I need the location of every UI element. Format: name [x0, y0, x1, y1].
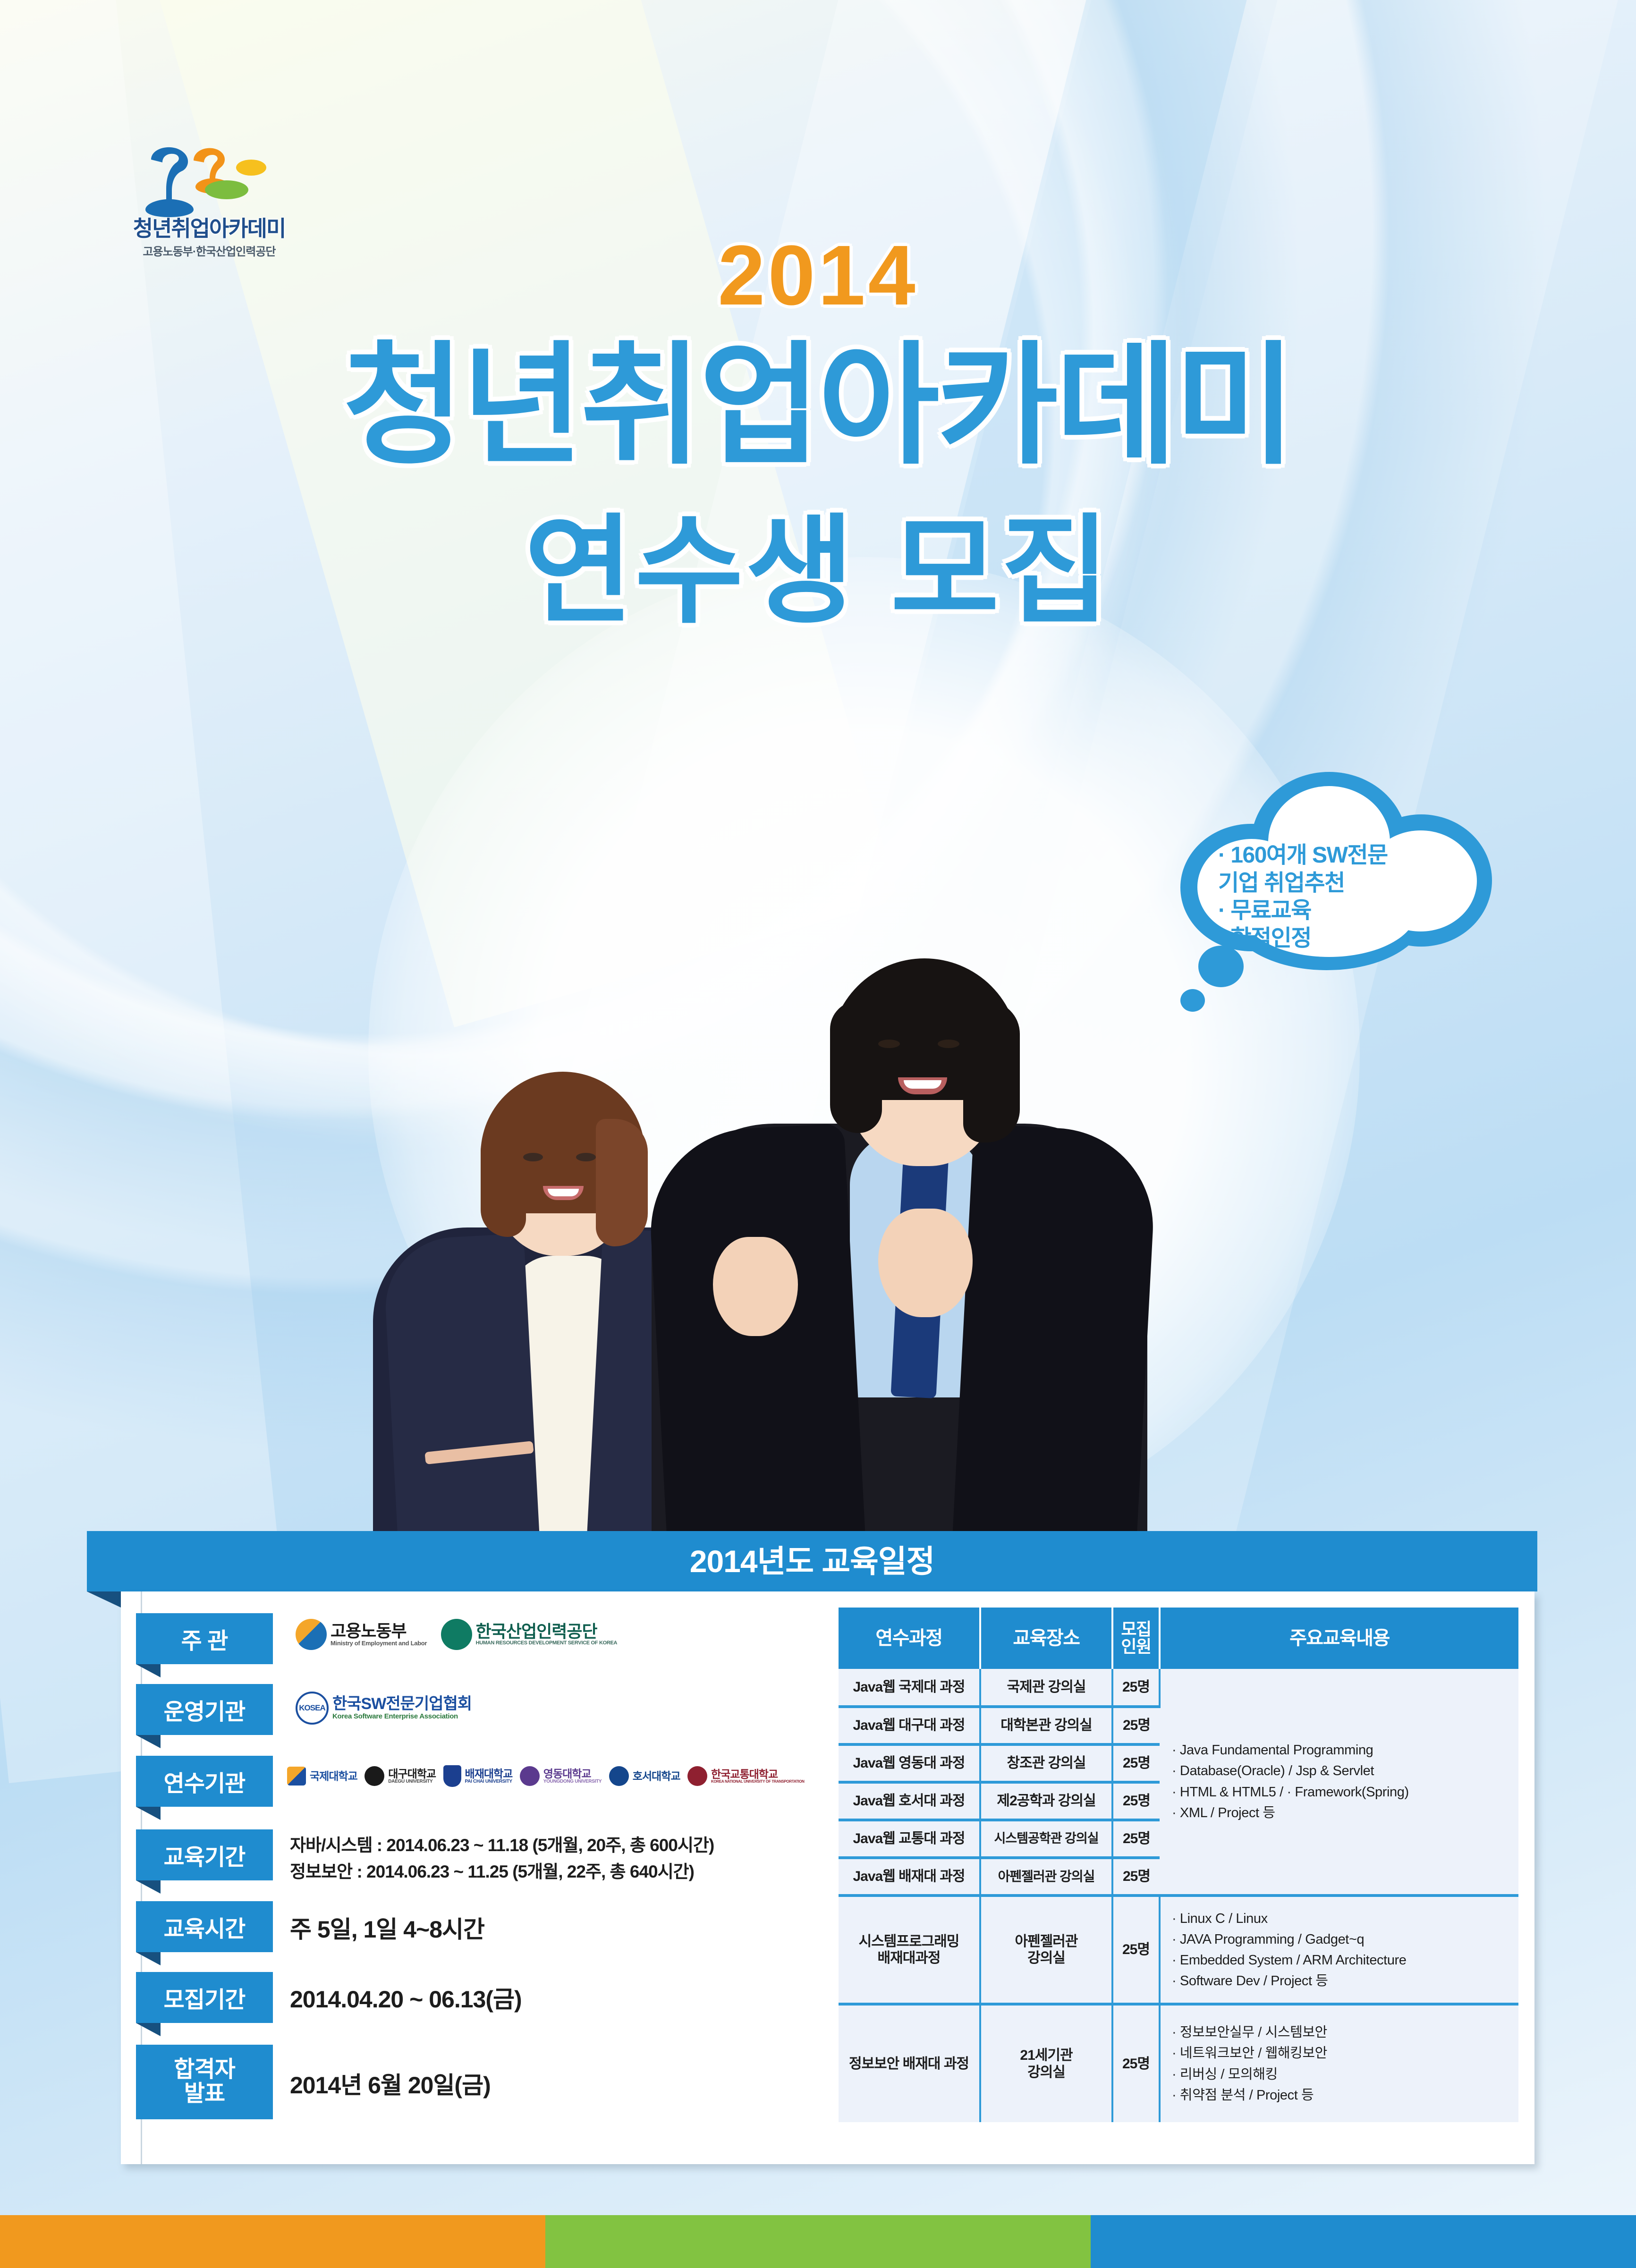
hero-year: 2014: [0, 227, 1636, 324]
desc-line: · 정보보안실무 / 시스템보안: [1172, 2022, 1517, 2043]
bubble-tail-dot-large: [1198, 946, 1244, 987]
info-label-period: 교육기간: [136, 1829, 273, 1880]
cell-course: Java웹 배재대 과정: [839, 1858, 980, 1896]
kosea-mark-icon: KOSEA: [296, 1692, 329, 1725]
info-label-operator: 운영기관: [136, 1684, 273, 1735]
info-value-period: 자바/시스템 : 2014.06.23 ~ 11.18 (5개월, 20주, 총…: [290, 1832, 714, 1885]
info-value-application-period: 2014.04.20 ~ 06.13(금): [290, 1980, 522, 2014]
info-fold-operator-icon: [136, 1735, 161, 1748]
schedule-table: 연수과정 교육장소 모집 인원 주요교육내용 Java웹 국제대 과정 국제관 …: [839, 1608, 1518, 2122]
univ-name-ko: 호서대학교: [633, 1770, 680, 1782]
univ-name-ko: 한국교통대학교: [711, 1769, 805, 1780]
cell-description: · Linux C / Linux · JAVA Programming / G…: [1160, 1896, 1518, 2004]
cell-course: Java웹 영동대 과정: [839, 1744, 980, 1782]
info-label-hours-text: 교육시간: [164, 1910, 246, 1943]
bubble-benefit-3: · 학점인정: [1218, 925, 1464, 953]
univ-name-en: DAEGU UNIVERSITY: [388, 1779, 436, 1785]
hoseo-mark-icon: [609, 1766, 629, 1786]
knut-mark-icon: [687, 1766, 707, 1786]
desc-line: · 네트워크보안 / 웹해킹보안: [1172, 2043, 1517, 2064]
desc-line: · 리버싱 / 모의해킹: [1172, 2064, 1517, 2085]
desc-line: · Embedded System / ARM Architecture: [1172, 1950, 1517, 1971]
students-photo: [359, 727, 1190, 1539]
bubble-benefit-1: 기업 취업추천: [1218, 870, 1464, 897]
info-value-training-institutions: 국제대학교 대구대학교 DAEGU UNIVERSITY 배재대학교 PAI C…: [287, 1765, 835, 1787]
cell-place: 21세기관 강의실: [980, 2004, 1112, 2122]
info-label-training-institutions: 연수기관: [136, 1756, 273, 1807]
cell-course: Java웹 호서대 과정: [839, 1782, 980, 1820]
cell-quota: 25명: [1112, 1744, 1160, 1782]
bubble-tail-dot-small: [1180, 989, 1205, 1012]
table-header-course: 연수과정: [839, 1608, 980, 1669]
green-bar: [545, 2215, 1091, 2268]
schedule-banner: 2014년도 교육일정: [87, 1531, 1537, 1591]
cell-place: 시스템공학관 강의실: [980, 1820, 1112, 1858]
univ-name-ko: 국제대학교: [310, 1770, 357, 1782]
cell-course: 시스템프로그래밍 배재대과정: [839, 1896, 980, 2004]
bubble-benefit-list: · 160여개 SW전문 기업 취업추천 · 무료교육 · 학점인정: [1218, 842, 1464, 952]
period-line-1: 정보보안 : 2014.06.23 ~ 11.25 (5개월, 22주, 총 6…: [290, 1859, 714, 1885]
desc-line: · Database(Oracle) / Jsp & Servlet: [1172, 1760, 1517, 1781]
info-label-period-text: 교육기간: [164, 1838, 246, 1871]
cell-place: 국제관 강의실: [980, 1669, 1112, 1707]
cell-quota: 25명: [1112, 1858, 1160, 1896]
schedule-banner-title: 2014년도 교육일정: [87, 1531, 1537, 1591]
paichai-mark-icon: [443, 1765, 461, 1787]
cell-quota: 25명: [1112, 1896, 1160, 2004]
blue-bar: [1091, 2215, 1636, 2268]
daegu-mark-icon: [364, 1766, 384, 1786]
desc-line: · HTML & HTML5 / · Framework(Spring): [1172, 1782, 1517, 1803]
table-row: 시스템프로그래밍 배재대과정 아펜젤러관 강의실 25명 · Linux C /…: [839, 1896, 1518, 2004]
benefits-thought-bubble: · 160여개 SW전문 기업 취업추천 · 무료교육 · 학점인정: [1171, 772, 1492, 975]
info-label-operator-text: 운영기관: [164, 1693, 246, 1726]
cell-place: 아펜젤러관 강의실: [980, 1896, 1112, 2004]
youngdong-mark-icon: [520, 1766, 540, 1786]
cell-place: 제2공학과 강의실: [980, 1782, 1112, 1820]
info-label-application-text: 모집기간: [164, 1981, 246, 2014]
info-value-host: 고용노동부 Ministry of Employment and Labor 한…: [296, 1619, 815, 1650]
period-line-0: 자바/시스템 : 2014.06.23 ~ 11.18 (5개월, 20주, 총…: [290, 1832, 714, 1859]
info-list: 주 관 고용노동부 Ministry of Employment and Lab…: [121, 1591, 829, 2164]
logo-green-dot-icon: [205, 180, 248, 199]
univ-logo-paichai: 배재대학교 PAI CHAI UNIVERSITY: [443, 1765, 513, 1787]
moel-mark-icon: [296, 1619, 327, 1650]
org-name-ko: 한국SW전문기업협회: [332, 1696, 472, 1713]
table-header-content: 주요교육내용: [1160, 1608, 1518, 1669]
info-fold-training-icon: [136, 1807, 161, 1820]
photo-man: [652, 765, 1147, 1539]
univ-logo-daegu: 대구대학교 DAEGU UNIVERSITY: [364, 1766, 436, 1786]
org-logo-hrdkorea: 한국산업인력공단 HUMAN RESOURCES DEVELOPMENT SER…: [441, 1619, 618, 1650]
info-fold-application-icon: [136, 2023, 161, 2036]
org-logo-moel: 고용노동부 Ministry of Employment and Labor: [296, 1619, 427, 1650]
univ-name-en: YOUNGDONG UNIVERSITY: [543, 1779, 602, 1785]
cell-quota: 25명: [1112, 1707, 1160, 1744]
cell-quota: 25명: [1112, 1782, 1160, 1820]
univ-name-ko: 영동대학교: [543, 1768, 602, 1779]
desc-line: · Software Dev / Project 등: [1172, 1971, 1517, 1991]
hero-title-line2: 연수생 모집: [0, 512, 1636, 630]
info-label-host-text: 주 관: [181, 1622, 228, 1655]
desc-line: · XML / Project 등: [1172, 1803, 1517, 1823]
info-label-training-text: 연수기관: [164, 1765, 246, 1798]
info-label-application-period: 모집기간: [136, 1972, 273, 2023]
cell-place: 대학본관 강의실: [980, 1707, 1112, 1744]
org-name-ko: 한국산업인력공단: [476, 1623, 618, 1641]
cell-description: · Java Fundamental Programming · Databas…: [1160, 1669, 1518, 1896]
hrdkorea-mark-icon: [441, 1619, 472, 1650]
org-name-en: HUMAN RESOURCES DEVELOPMENT SERVICE OF K…: [476, 1641, 618, 1646]
info-fold-period-icon: [136, 1880, 161, 1894]
org-name-en: Korea Software Enterprise Association: [332, 1713, 472, 1720]
table-header-row: 연수과정 교육장소 모집 인원 주요교육내용: [839, 1608, 1518, 1669]
info-panel: 주 관 고용노동부 Ministry of Employment and Lab…: [121, 1591, 1534, 2164]
desc-line: · 취약점 분석 / Project 등: [1172, 2085, 1517, 2106]
poster-root: 청년취업아카데미 고용노동부·한국산업인력공단 2014 청년취업아카데미 연수…: [0, 0, 1636, 2268]
bubble-benefit-2: · 무료교육: [1218, 897, 1464, 925]
bubble-benefit-0: · 160여개 SW전문: [1218, 842, 1464, 870]
cell-course: 정보보안 배재대 과정: [839, 2004, 980, 2122]
info-fold-host-icon: [136, 1664, 161, 1677]
univ-name-ko: 배재대학교: [465, 1768, 513, 1779]
org-name-ko: 고용노동부: [331, 1622, 427, 1640]
table-header-quota: 모집 인원: [1112, 1608, 1160, 1669]
cell-course: Java웹 교통대 과정: [839, 1820, 980, 1858]
info-fold-hours-icon: [136, 1952, 161, 1965]
cell-description: · 정보보안실무 / 시스템보안 · 네트워크보안 / 웹해킹보안 · 리버싱 …: [1160, 2004, 1518, 2122]
cell-quota: 25명: [1112, 1820, 1160, 1858]
hero-title-line1: 청년취업아카데미: [0, 340, 1636, 472]
orange-bar: [0, 2215, 545, 2268]
info-value-operator: KOSEA 한국SW전문기업협회 Korea Software Enterpri…: [296, 1692, 815, 1725]
desc-line: · Linux C / Linux: [1172, 1908, 1517, 1929]
org-name-en: Ministry of Employment and Labor: [331, 1640, 427, 1647]
cell-quota: 25명: [1112, 2004, 1160, 2122]
info-label-announcement-text: 합격자 발표: [174, 2058, 235, 2106]
table-row: Java웹 국제대 과정 국제관 강의실 25명 · Java Fundamen…: [839, 1669, 1518, 1707]
univ-logo-kookje: 국제대학교: [287, 1767, 357, 1786]
table-row: 정보보안 배재대 과정 21세기관 강의실 25명 · 정보보안실무 / 시스템…: [839, 2004, 1518, 2122]
univ-name-ko: 대구대학교: [388, 1768, 436, 1779]
cell-course: Java웹 대구대 과정: [839, 1707, 980, 1744]
univ-logo-knut: 한국교통대학교 KOREA NATIONAL UNIVERSITY OF TRA…: [687, 1766, 805, 1786]
info-label-announcement: 합격자 발표: [136, 2045, 273, 2119]
info-label-hours: 교육시간: [136, 1901, 273, 1952]
kookje-mark-icon: [287, 1767, 306, 1786]
univ-name-en: KOREA NATIONAL UNIVERSITY OF TRANSPORTAT…: [711, 1780, 805, 1784]
desc-line: · Java Fundamental Programming: [1172, 1740, 1517, 1760]
table-header-place: 교육장소: [980, 1608, 1112, 1669]
info-label-host: 주 관: [136, 1613, 273, 1664]
univ-logo-youngdong: 영동대학교 YOUNGDONG UNIVERSITY: [520, 1766, 602, 1786]
univ-logo-hoseo: 호서대학교: [609, 1766, 680, 1786]
cell-quota: 25명: [1112, 1669, 1160, 1707]
cell-place: 아펜젤러관 강의실: [980, 1858, 1112, 1896]
cell-course: Java웹 국제대 과정: [839, 1669, 980, 1707]
info-value-announcement: 2014년 6월 20일(금): [290, 2066, 491, 2100]
logo-yellow-dot-icon: [236, 160, 266, 176]
desc-line: · JAVA Programming / Gadget~q: [1172, 1929, 1517, 1950]
footer-color-bars: [0, 2215, 1636, 2268]
info-value-hours: 주 5일, 1일 4~8시간: [290, 1911, 484, 1945]
logo-mark-icon: [108, 142, 311, 217]
org-logo-kosea: KOSEA 한국SW전문기업협회 Korea Software Enterpri…: [296, 1692, 472, 1725]
univ-name-en: PAI CHAI UNIVERSITY: [465, 1779, 513, 1785]
cell-place: 창조관 강의실: [980, 1744, 1112, 1782]
